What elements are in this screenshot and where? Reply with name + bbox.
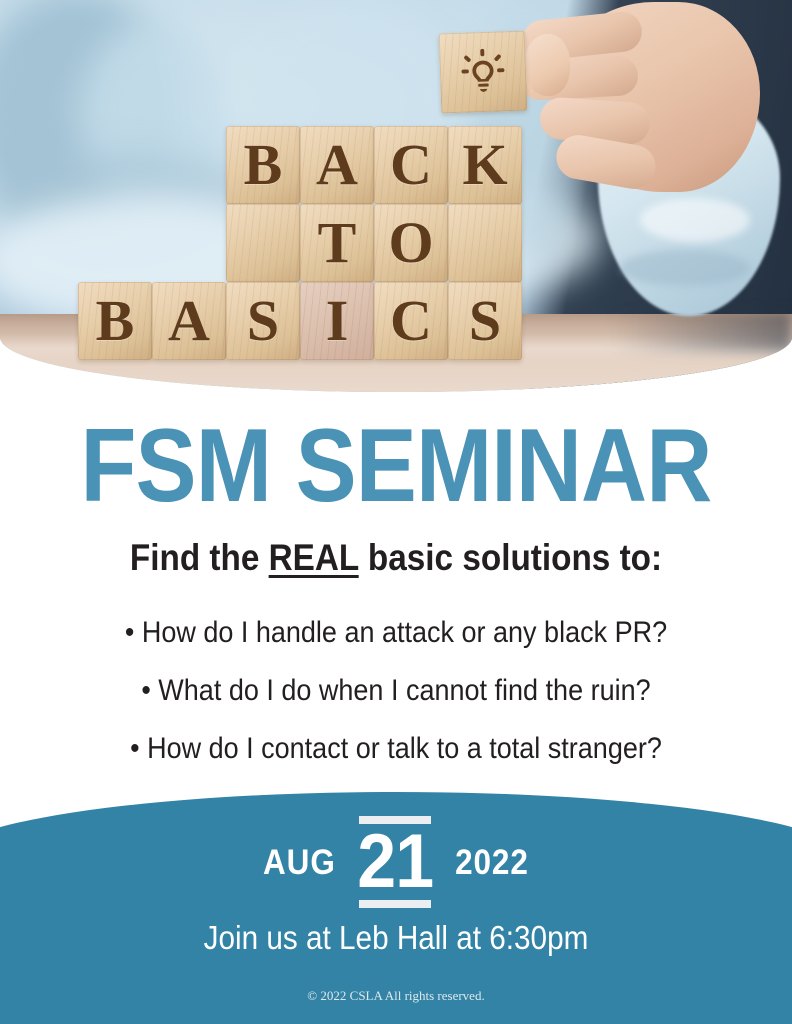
date-day: 21 [357, 831, 433, 893]
letter-block: C [374, 126, 448, 204]
letter-block: K [448, 126, 522, 204]
block-letter: T [318, 214, 357, 272]
page-title: FSM SEMINAR [48, 414, 745, 518]
letter-block: B [78, 282, 152, 360]
date-month: AUG [263, 845, 336, 880]
block-letter: I [326, 292, 349, 350]
subtitle-suffix: basic solutions to: [359, 537, 662, 578]
footer-content: AUG 21 2022 Join us at Leb Hall at 6:30p… [0, 792, 792, 1024]
letter-block: O [374, 204, 448, 282]
block-letter: C [390, 136, 432, 194]
poster: B A C K T O B A S I C S FSM SEMINAR Find… [0, 0, 792, 1024]
date-year: 2022 [455, 845, 529, 880]
letter-block: S [448, 282, 522, 360]
thumb [524, 34, 570, 96]
date-day-group: 21 [354, 816, 437, 908]
shirt-cuff-fold [640, 198, 750, 242]
body-section: FSM SEMINAR Find the REAL basic solution… [0, 392, 792, 842]
block-letter: A [168, 292, 210, 350]
lightbulb-icon [456, 45, 510, 99]
event-date: AUG 21 2022 [0, 816, 792, 908]
letter-block: C [374, 282, 448, 360]
subtitle-prefix: Find the [130, 537, 269, 578]
subtitle: Find the REAL basic solutions to: [40, 538, 753, 578]
block-letter: B [96, 292, 135, 350]
block-letter: O [388, 214, 433, 272]
subtitle-emphasis: REAL [269, 537, 359, 578]
letter-block-blank [226, 204, 300, 282]
letter-block: I [300, 282, 374, 360]
block-letter: A [316, 136, 358, 194]
block-letter: B [244, 136, 283, 194]
hero-photo: B A C K T O B A S I C S [0, 0, 792, 392]
list-item: • How do I handle an attack or any black… [40, 604, 753, 662]
letter-block: A [152, 282, 226, 360]
venue-text: Join us at Leb Hall at 6:30pm [40, 920, 753, 956]
footer-section: AUG 21 2022 Join us at Leb Hall at 6:30p… [0, 792, 792, 1024]
lightbulb-block [439, 31, 528, 114]
letter-block: S [226, 282, 300, 360]
list-item: • What do I do when I cannot find the ru… [40, 662, 753, 720]
block-letter: S [247, 292, 279, 350]
bullet-list: • How do I handle an attack or any black… [0, 604, 792, 778]
letter-block: A [300, 126, 374, 204]
block-letter: C [390, 292, 432, 350]
letter-block-blank [448, 204, 522, 282]
list-item: • How do I contact or talk to a total st… [40, 720, 753, 778]
letter-block: B [226, 126, 300, 204]
shirt-cuff-fold [620, 250, 750, 286]
table-shadow [612, 312, 792, 352]
block-letter: K [462, 136, 507, 194]
block-letter: S [469, 292, 501, 350]
letter-block: T [300, 204, 374, 282]
copyright-text: © 2022 CSLA All rights reserved. [0, 988, 792, 1004]
